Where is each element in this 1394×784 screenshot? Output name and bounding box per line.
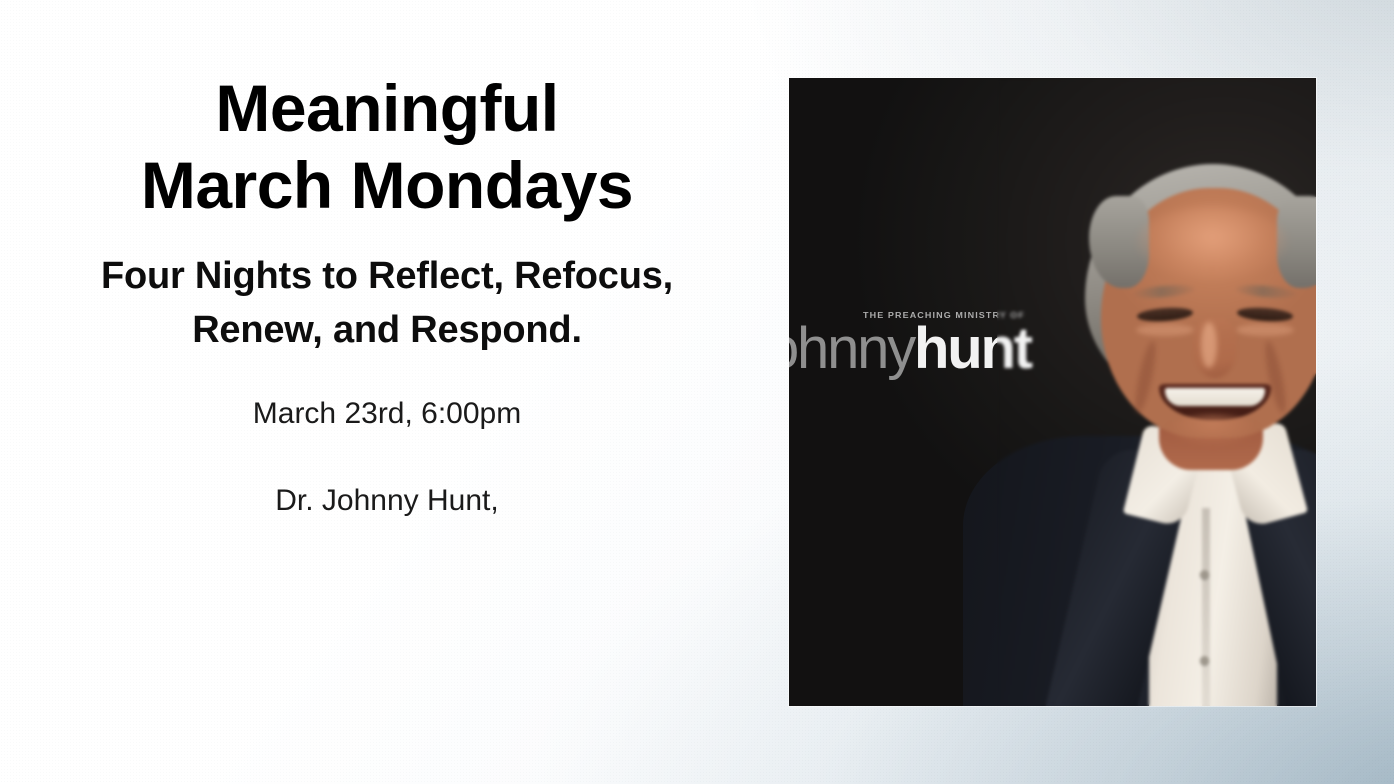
event-speaker-name: Dr. Johnny Hunt,	[62, 481, 712, 522]
shirt-button-upper	[1200, 570, 1209, 579]
chin	[1165, 414, 1261, 448]
speaker-photo: THE PREACHING MINISTRY OF ohnnyhunt	[789, 78, 1316, 706]
photo-dark-backdrop: THE PREACHING MINISTRY OF ohnnyhunt	[789, 78, 1316, 706]
slide-subtitle: Four Nights to Reflect, Refocus, Renew, …	[94, 250, 680, 358]
presentation-slide: Meaningful March Mondays Four Nights to …	[0, 0, 1394, 784]
speaker-portrait	[997, 78, 1316, 706]
event-date-time: March 23rd, 6:00pm	[62, 394, 712, 435]
nose-highlight	[1201, 322, 1217, 368]
shirt-button-lower	[1200, 656, 1209, 665]
slide-title: Meaningful March Mondays	[62, 70, 712, 224]
under-eye-right	[1236, 324, 1294, 336]
shirt-placket	[1202, 508, 1210, 706]
teeth	[1165, 388, 1265, 406]
wordmark-first-name: ohnny	[789, 316, 914, 381]
slide-text-column: Meaningful March Mondays Four Nights to …	[62, 70, 712, 521]
under-eye-left	[1136, 324, 1194, 336]
forehead-highlight	[1137, 206, 1287, 280]
